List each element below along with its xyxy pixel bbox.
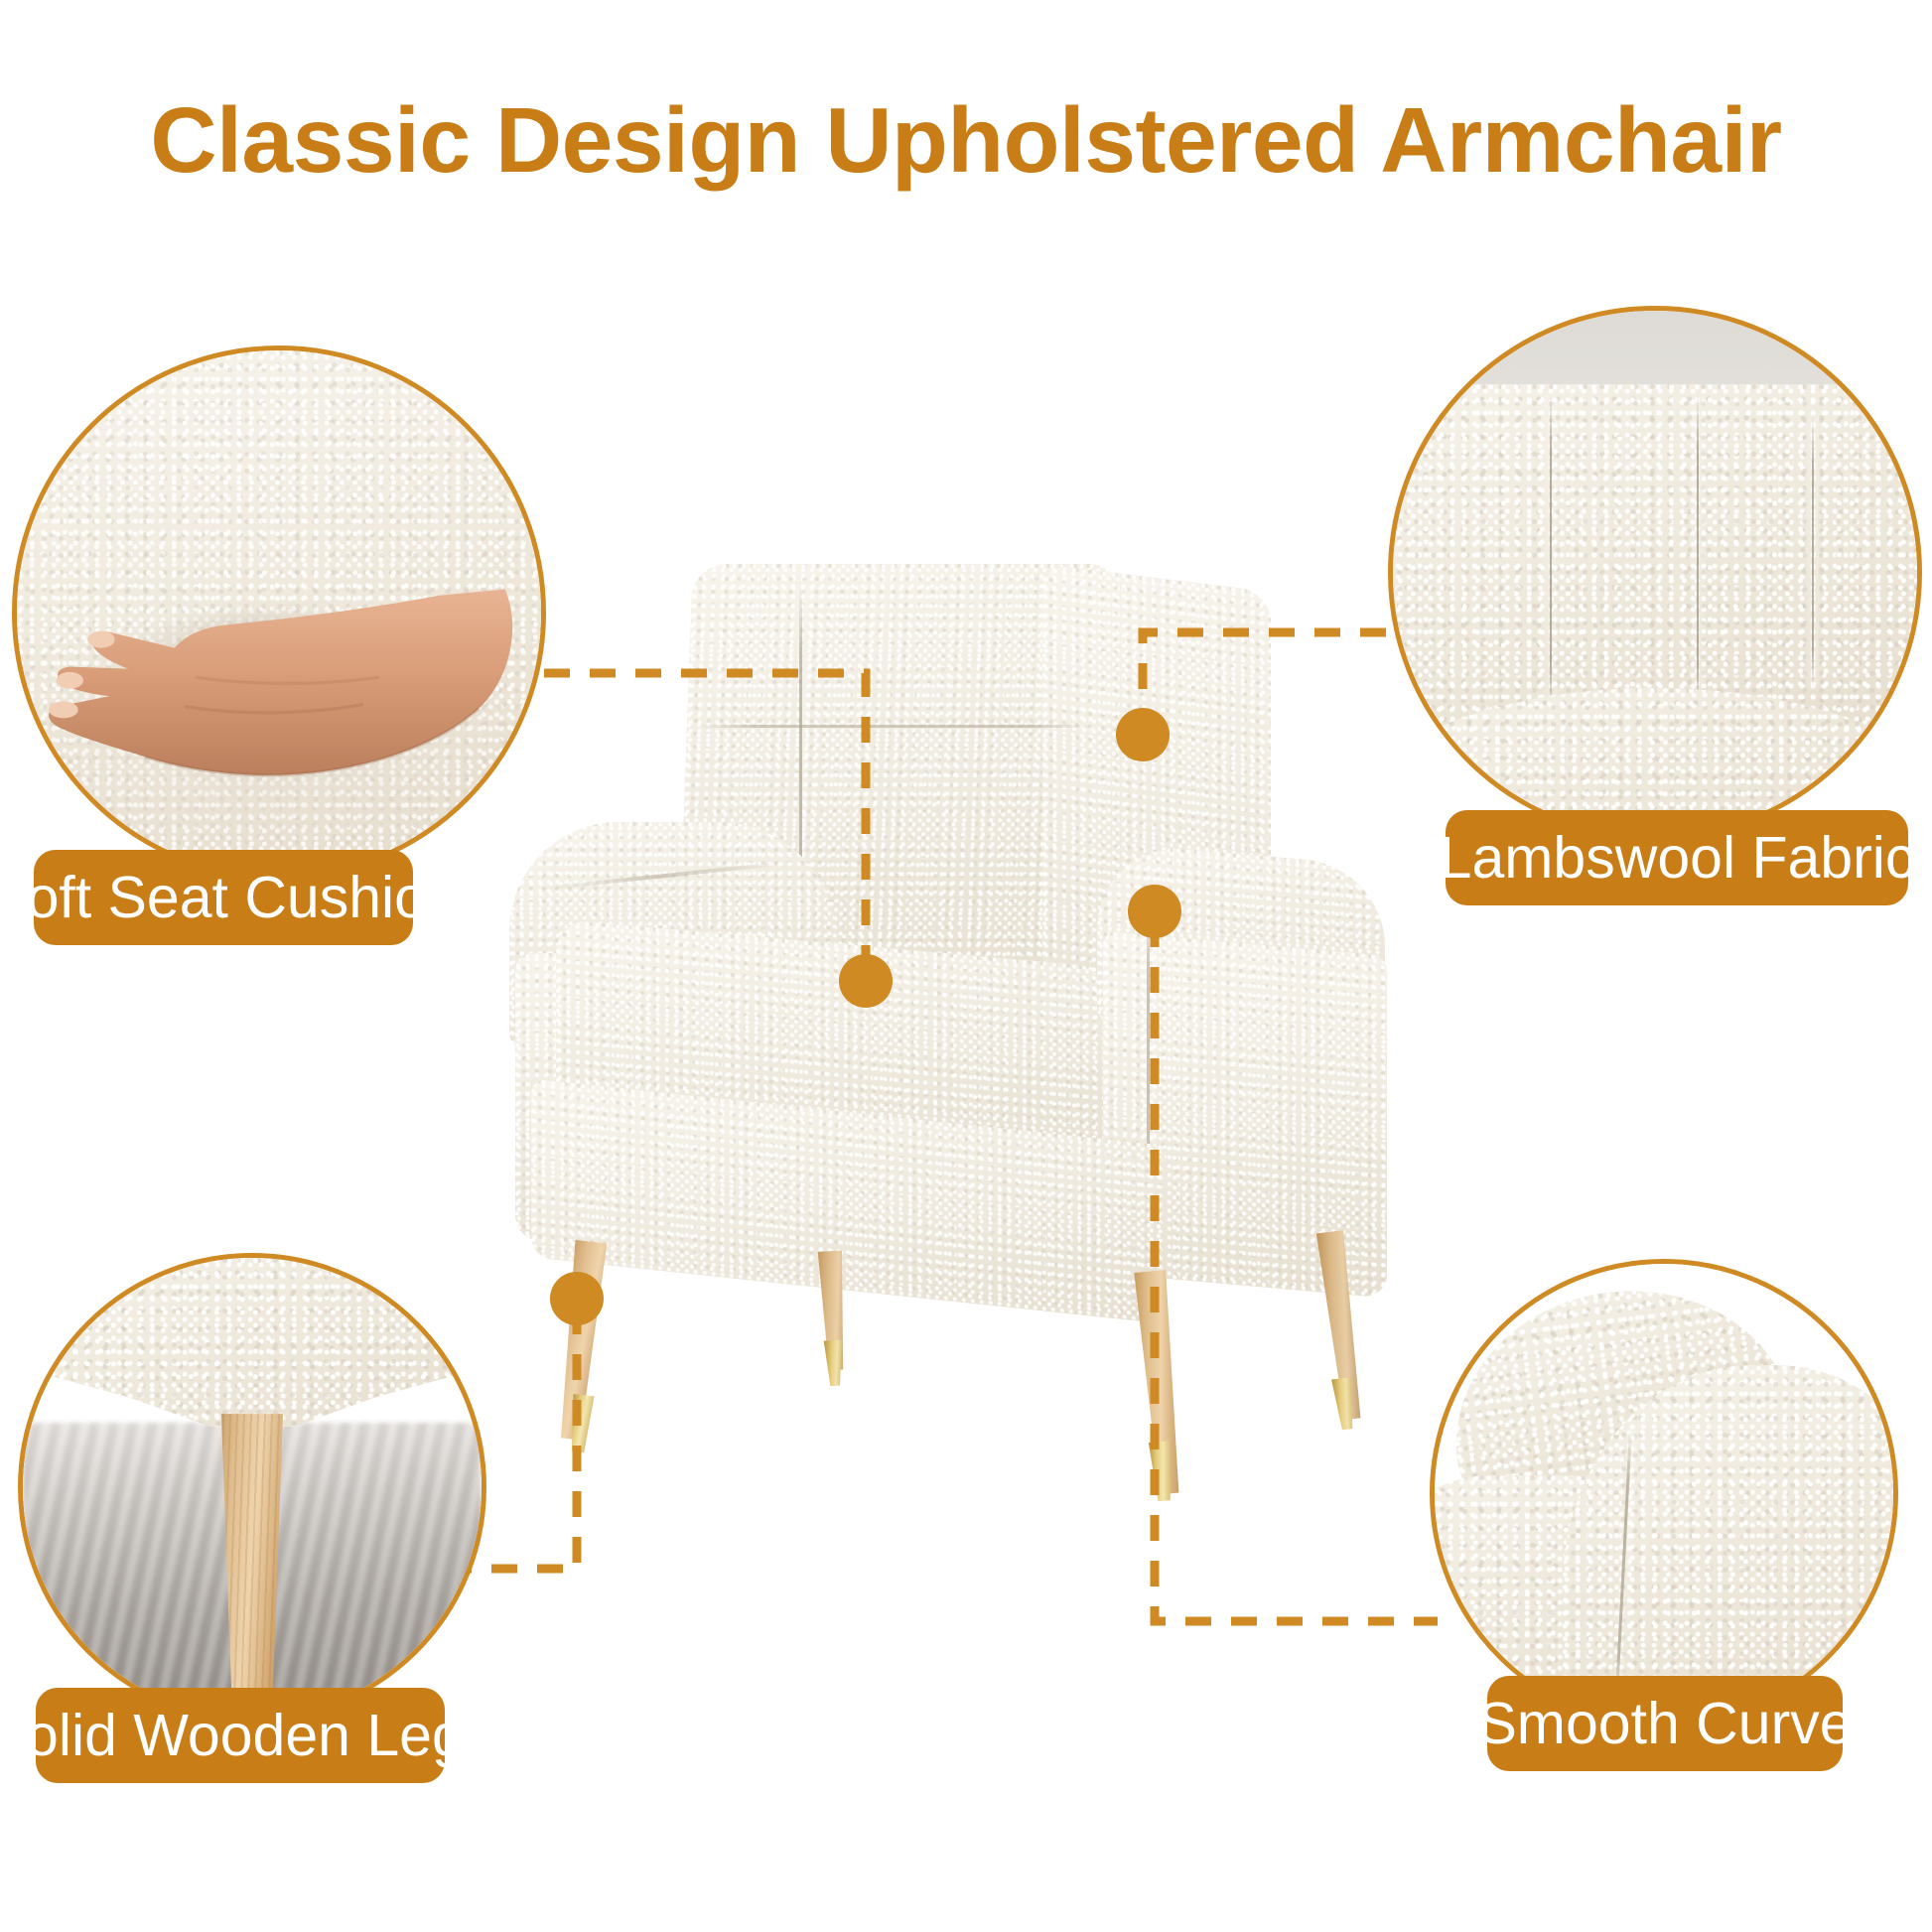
callout-image-smooth-curve — [1430, 1259, 1898, 1727]
photo-curved-armrest-closeup — [1435, 1264, 1893, 1723]
callout-label-text: Smooth Curve — [1477, 1690, 1852, 1757]
callout-image-solid-wooden-legs — [18, 1253, 486, 1722]
photo-wooden-leg-on-carpet — [23, 1258, 482, 1717]
backrest-seam-horizontal — [695, 725, 1092, 728]
callout-label-text: Lambswool Fabric — [1440, 824, 1915, 892]
callout-label-smooth-curve[interactable]: Smooth Curve — [1487, 1676, 1843, 1771]
photo-tufted-backrest-closeup — [1393, 311, 1917, 835]
product-image-armchair — [501, 556, 1395, 1459]
callout-image-soft-seat-cushion — [12, 345, 546, 880]
callout-image-lambswool-fabric — [1388, 306, 1922, 840]
photo-hand-pressing-cushion — [17, 350, 541, 875]
page-title: Classic Design Upholstered Armchair — [0, 87, 1932, 194]
hand-illustration — [28, 581, 531, 801]
callout-label-text: Solid Wooden Legs — [0, 1702, 493, 1769]
callout-label-text: Soft Seat Cushion — [0, 864, 460, 931]
callout-label-lambswool-fabric[interactable]: Lambswool Fabric — [1446, 810, 1908, 905]
infographic-canvas: Classic Design Upholstered Armchair — [0, 0, 1932, 1932]
callout-label-soft-seat-cushion[interactable]: Soft Seat Cushion — [34, 850, 413, 945]
chair-leg-rear-center-brass-cap — [821, 1339, 847, 1386]
callout-label-solid-wooden-legs[interactable]: Solid Wooden Legs — [36, 1688, 445, 1783]
